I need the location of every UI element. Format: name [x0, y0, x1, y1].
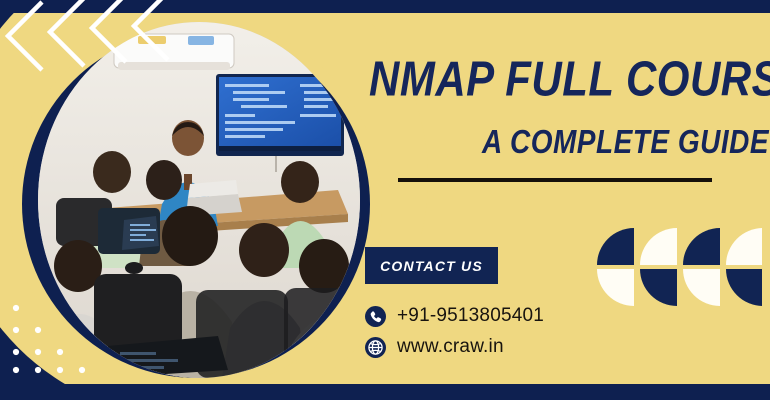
contact-us-button-label: CONTACT US [380, 258, 483, 274]
website-url: www.craw.in [397, 336, 504, 358]
phone-icon [365, 306, 386, 327]
page-title: NMAP FULL COURSE [369, 54, 769, 104]
globe-icon [365, 337, 386, 358]
promo-banner: NMAP FULL COURSE A COMPLETE GUIDE CONTAC… [0, 0, 770, 400]
title-divider [398, 178, 712, 182]
chevron-left-icon [50, 0, 84, 66]
chevron-left-icon [8, 2, 42, 70]
contact-website-row[interactable]: www.craw.in [365, 336, 504, 358]
chevron-left-icon [134, 0, 168, 60]
contact-us-button[interactable]: CONTACT US [365, 247, 498, 284]
phone-number: +91-9513805401 [397, 305, 544, 327]
chevron-left-icon-group [0, 0, 196, 104]
contact-phone-row[interactable]: +91-9513805401 [365, 305, 544, 327]
chevron-left-icon [92, 0, 126, 62]
dot-grid [4, 300, 134, 392]
content-column: NMAP FULL COURSE A COMPLETE GUIDE CONTAC… [355, 0, 770, 400]
page-subtitle: A COMPLETE GUIDE [369, 126, 769, 159]
